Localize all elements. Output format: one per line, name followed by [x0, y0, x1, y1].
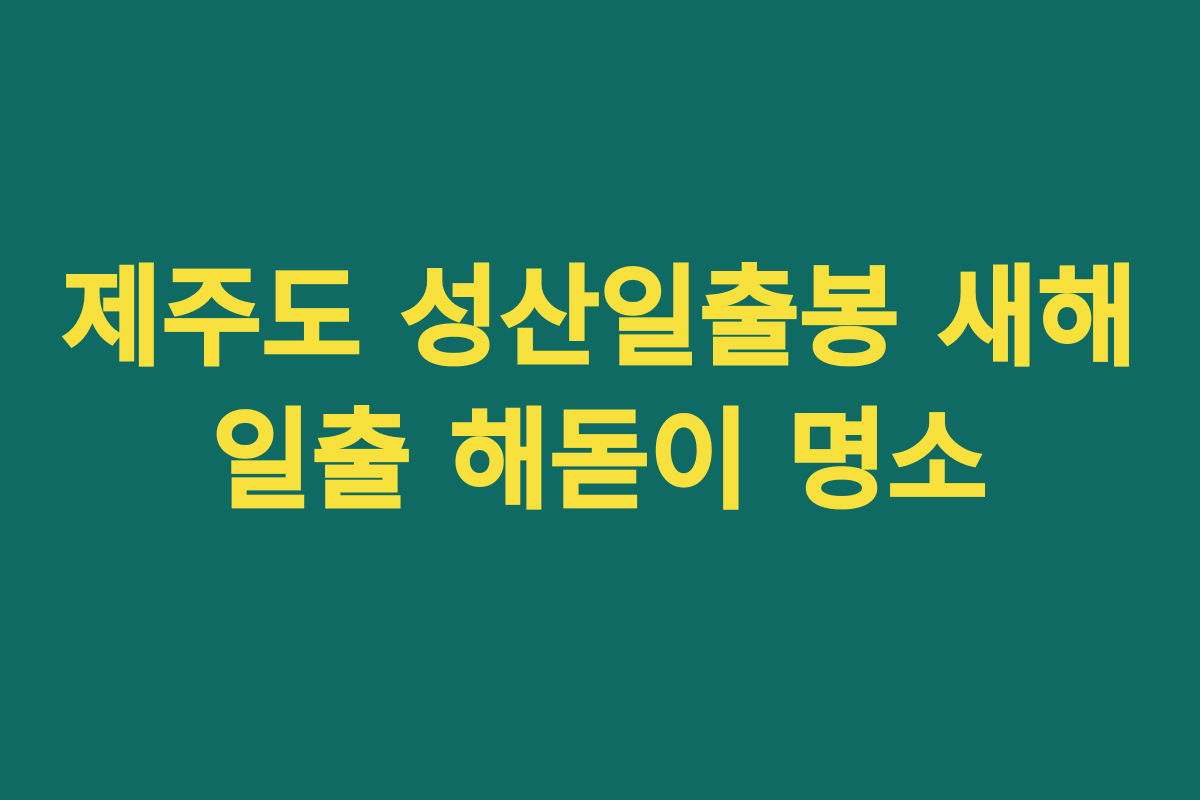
headline-block: 제주도 성산일출봉 새해 일출 해돋이 명소 [40, 248, 1160, 533]
banner-canvas: 제주도 성산일출봉 새해 일출 해돋이 명소 [0, 0, 1200, 800]
headline-line-2: 일출 해돋이 명소 [40, 391, 1160, 534]
headline-line-1: 제주도 성산일출봉 새해 [40, 248, 1160, 391]
